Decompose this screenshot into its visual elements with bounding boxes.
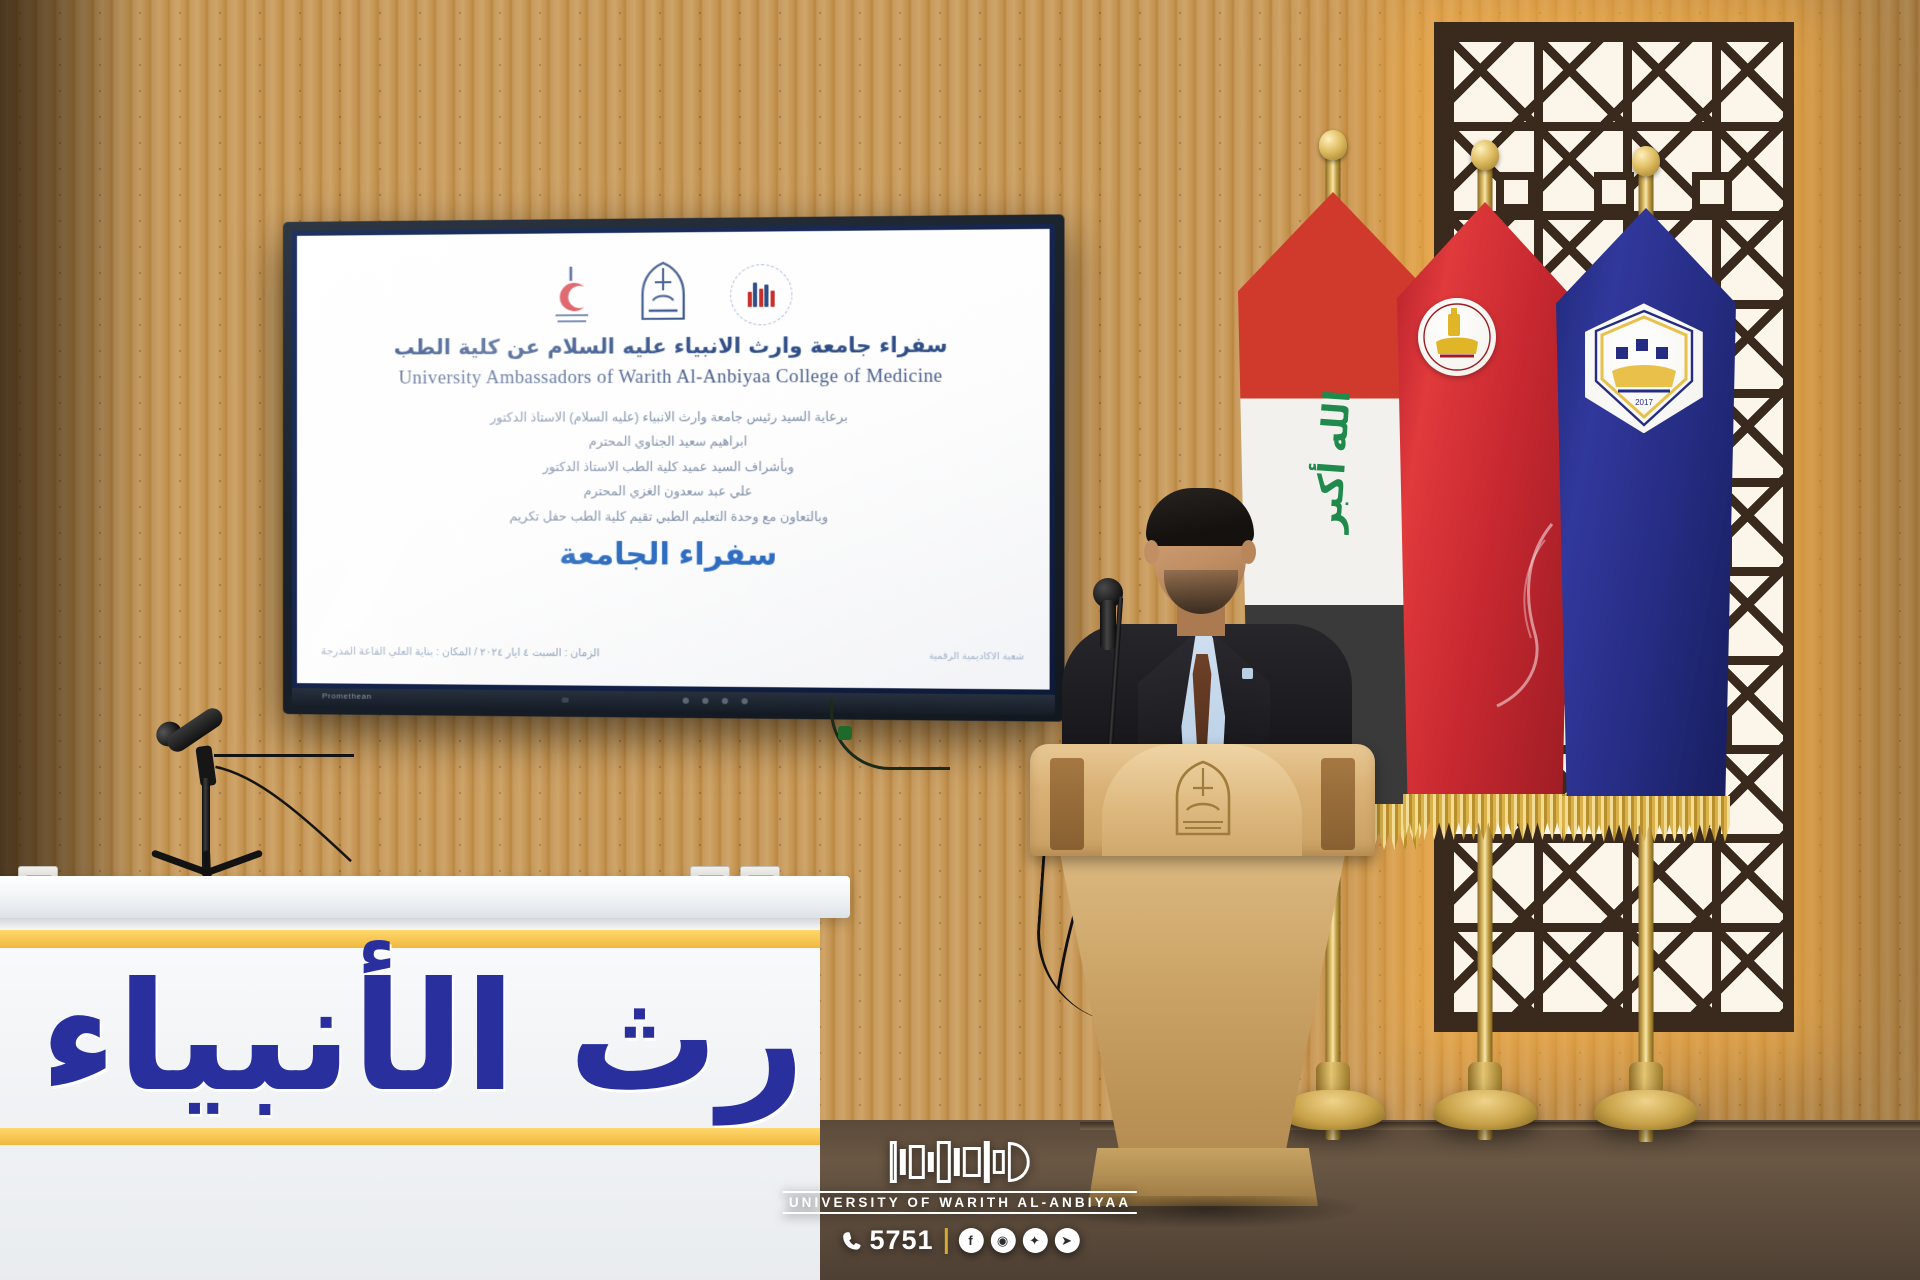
presentation-display[interactable]: سفراء جامعة وارث الانبياء عليه السلام عن… xyxy=(283,214,1064,721)
display-buttons[interactable] xyxy=(683,698,748,705)
slide-line: ابراهيم سعيد الجناوي المحترم xyxy=(327,432,1018,453)
red-crescent-logo xyxy=(545,263,596,326)
watermark-contact-row: 5751 f ◉ ✦ ➤ xyxy=(783,1225,1137,1256)
slide-heading-english: University Ambassadors of Warith Al-Anbi… xyxy=(327,364,1018,393)
ear xyxy=(1241,540,1256,564)
microphone-leg xyxy=(203,850,211,876)
display-screen: سفراء جامعة وارث الانبياء عليه السلام عن… xyxy=(297,229,1050,690)
watermark-logo-icon xyxy=(783,1135,1137,1188)
ministry-of-health-logo xyxy=(730,264,792,326)
table-banner: جامعة وارث الأنبياء xyxy=(0,940,800,1136)
flag-stand xyxy=(1594,1090,1698,1130)
slide-line: علي عبد سعدون الغزي المحترم xyxy=(327,482,1018,502)
beard xyxy=(1164,570,1238,614)
watermark-phone-number: 5751 xyxy=(869,1225,933,1256)
display-brand-left: Promethean xyxy=(322,691,372,700)
watermark-social-icons: f ◉ ✦ ➤ xyxy=(959,1228,1080,1253)
flag-stand xyxy=(1433,1090,1537,1130)
slide-main-title: سفراء الجامعة xyxy=(327,536,1018,574)
banner-text: جامعة وارث الأنبياء xyxy=(40,967,800,1110)
lapel-pin xyxy=(1242,668,1253,679)
watermark-phone: 5751 xyxy=(840,1225,933,1256)
watermark: UNIVERSITY OF WARITH AL-ANBIYAA 5751 f ◉… xyxy=(783,1135,1137,1256)
flag-finial xyxy=(1319,130,1347,160)
facebook-icon[interactable]: f xyxy=(959,1228,984,1253)
ear xyxy=(1144,540,1159,564)
display-button[interactable] xyxy=(703,698,709,704)
slide-line: وبالتعاون مع وحدة التعليم الطبي تقيم كلي… xyxy=(327,507,1018,528)
slide-footer-left: شعبة الاكاديمية الرقمية xyxy=(929,651,1024,663)
podium-body xyxy=(1060,854,1345,1154)
slide-body: برعاية السيد رئيس جامعة وارث الانبياء (ع… xyxy=(327,407,1018,528)
flag-cloth xyxy=(1397,202,1573,802)
hair xyxy=(1146,488,1254,546)
phone-icon xyxy=(840,1230,862,1252)
slide-footer-right: الزمان : السبت ٤ ايار ٢٠٢٤ / المكان : بن… xyxy=(321,645,600,659)
svg-text:2017: 2017 xyxy=(1635,398,1653,407)
slide-line: وبأشراف السيد عميد كلية الطب الاستاذ الد… xyxy=(327,457,1018,477)
display-button[interactable] xyxy=(722,698,728,704)
presentation-slide: سفراء جامعة وارث الانبياء عليه السلام عن… xyxy=(297,229,1050,690)
instagram-icon[interactable]: ◉ xyxy=(991,1228,1016,1253)
university-flag-field xyxy=(1556,208,1736,804)
podium-microphone-body xyxy=(1100,600,1116,650)
slide-logo-row xyxy=(327,256,1018,328)
flag-finial xyxy=(1471,140,1499,170)
twitter-icon[interactable]: ✦ xyxy=(1023,1228,1048,1253)
watermark-university-name: UNIVERSITY OF WARITH AL-ANBIYAA xyxy=(783,1191,1137,1214)
slide-line: برعاية السيد رئيس جامعة وارث الانبياء (ع… xyxy=(327,407,1018,428)
slide-footer: شعبة الاكاديمية الرقمية الزمان : السبت ٤… xyxy=(321,645,1024,662)
flag-fringe xyxy=(1562,796,1730,842)
table-top xyxy=(0,876,850,918)
slide-heading-arabic: سفراء جامعة وارث الانبياء عليه السلام عن… xyxy=(327,330,1018,363)
flag-fringe xyxy=(1403,794,1567,840)
display-bezel: سفراء جامعة وارث الانبياء عليه السلام عن… xyxy=(292,224,1055,695)
photo-scene: سفراء جامعة وارث الانبياء عليه السلام عن… xyxy=(0,0,1920,1280)
flag-cloth: 2017 xyxy=(1556,208,1736,804)
flag-finial xyxy=(1632,146,1660,176)
display-button[interactable] xyxy=(683,698,689,704)
floor-microphone[interactable] xyxy=(140,720,280,900)
podium-emblem xyxy=(1161,758,1245,846)
telegram-icon[interactable]: ➤ xyxy=(1055,1228,1080,1253)
podium-top xyxy=(1030,744,1375,856)
display-cable-plug xyxy=(838,726,852,740)
university-flag: 2017 xyxy=(1548,166,1744,1172)
speaker-person xyxy=(1046,478,1366,778)
display-button[interactable] xyxy=(742,698,748,704)
microphone-cable xyxy=(214,754,354,874)
red-flag-emblem xyxy=(1418,298,1496,376)
watermark-divider xyxy=(945,1228,948,1254)
head-table: جامعة وارث الأنبياء xyxy=(0,876,850,1280)
banner-stripe-bottom xyxy=(0,1128,820,1145)
university-arch-logo xyxy=(631,259,695,326)
display-power-led xyxy=(561,698,568,703)
